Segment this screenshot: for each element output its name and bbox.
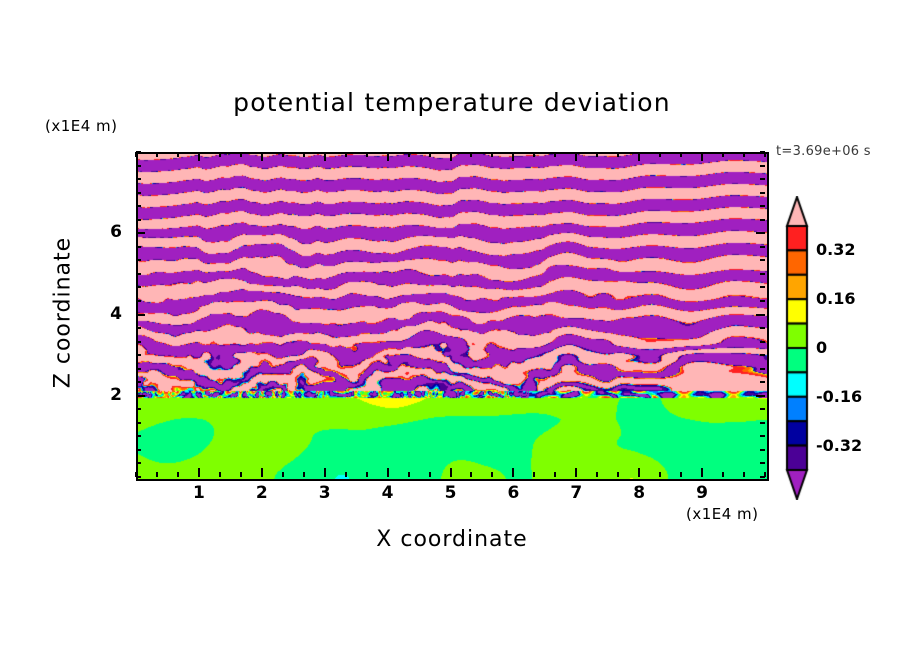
x-tick-major — [638, 468, 640, 477]
x-tick-minor — [240, 472, 242, 477]
y-tick-minor — [136, 368, 141, 370]
y-tick-minor — [136, 178, 141, 180]
colorbar-tick-label: -0.16 — [816, 387, 862, 406]
x-tick-minor — [743, 152, 745, 157]
y-tick-minor — [760, 178, 765, 180]
y-tick-major — [756, 314, 765, 316]
y-tick-minor — [136, 462, 141, 464]
y-tick-minor — [136, 476, 141, 478]
y-tick-minor — [136, 246, 141, 248]
y-tick-major — [136, 395, 145, 397]
x-tick-major — [450, 152, 452, 161]
colorbar-tick-label: 0.32 — [816, 240, 855, 259]
x-tick-label: 1 — [179, 483, 219, 503]
y-tick-major — [756, 232, 765, 234]
y-tick-minor — [136, 327, 141, 329]
colorbar-gradient — [784, 196, 810, 500]
y-tick-minor — [136, 354, 141, 356]
contour-plot-area — [136, 152, 769, 481]
x-tick-minor — [408, 472, 410, 477]
colorbar[interactable] — [784, 196, 810, 500]
y-tick-label: 4 — [92, 304, 122, 324]
x-tick-label: 3 — [305, 483, 345, 503]
x-tick-label: 9 — [682, 483, 722, 503]
x-tick-label: 7 — [556, 483, 596, 503]
colorbar-tick-label: -0.32 — [816, 436, 862, 455]
y-tick-minor — [760, 422, 765, 424]
y-tick-minor — [136, 408, 141, 410]
x-tick-minor — [366, 152, 368, 157]
x-tick-major — [575, 152, 577, 161]
x-tick-minor — [282, 472, 284, 477]
x-tick-major — [261, 468, 263, 477]
y-tick-major — [756, 395, 765, 397]
x-tick-minor — [429, 472, 431, 477]
x-tick-minor — [177, 472, 179, 477]
x-tick-minor — [596, 472, 598, 477]
y-tick-minor — [760, 219, 765, 221]
y-tick-minor — [136, 435, 141, 437]
x-tick-major — [701, 152, 703, 161]
y-tick-major — [136, 314, 145, 316]
x-tick-minor — [533, 472, 535, 477]
x-tick-minor — [303, 152, 305, 157]
x-tick-major — [450, 468, 452, 477]
y-tick-minor — [760, 165, 765, 167]
x-tick-minor — [219, 472, 221, 477]
x-axis-title: X coordinate — [0, 527, 904, 552]
x-tick-minor — [470, 472, 472, 477]
x-tick-minor — [282, 152, 284, 157]
x-tick-label: 2 — [242, 483, 282, 503]
x-tick-minor — [722, 472, 724, 477]
y-tick-label: 6 — [92, 222, 122, 242]
x-axis-unit-label: (x1E4 m) — [686, 505, 759, 523]
x-tick-major — [324, 152, 326, 161]
y-tick-minor — [136, 205, 141, 207]
x-tick-minor — [554, 472, 556, 477]
x-tick-major — [198, 152, 200, 161]
y-tick-minor — [760, 151, 765, 153]
x-tick-minor — [156, 152, 158, 157]
x-tick-major — [575, 468, 577, 477]
x-tick-minor — [617, 472, 619, 477]
x-tick-minor — [366, 472, 368, 477]
x-tick-minor — [491, 152, 493, 157]
x-tick-label: 6 — [493, 483, 533, 503]
temperature-deviation-field — [138, 154, 767, 479]
x-tick-minor — [345, 152, 347, 157]
y-tick-minor — [760, 449, 765, 451]
y-tick-minor — [760, 408, 765, 410]
timestamp-annotation: t=3.69e+06 s — [776, 144, 871, 159]
y-tick-minor — [760, 205, 765, 207]
x-tick-minor — [680, 152, 682, 157]
y-tick-minor — [136, 381, 141, 383]
y-tick-minor — [760, 246, 765, 248]
x-tick-minor — [596, 152, 598, 157]
y-tick-minor — [760, 259, 765, 261]
x-tick-minor — [408, 152, 410, 157]
y-tick-minor — [760, 368, 765, 370]
y-tick-minor — [136, 259, 141, 261]
y-tick-minor — [136, 341, 141, 343]
colorbar-tick-label: 0 — [816, 338, 827, 357]
x-tick-minor — [156, 472, 158, 477]
y-tick-minor — [760, 435, 765, 437]
y-tick-minor — [136, 422, 141, 424]
y-tick-minor — [760, 354, 765, 356]
x-tick-major — [387, 152, 389, 161]
y-tick-minor — [760, 286, 765, 288]
y-tick-minor — [136, 219, 141, 221]
x-tick-minor — [722, 152, 724, 157]
x-tick-major — [512, 152, 514, 161]
x-tick-label: 4 — [368, 483, 408, 503]
x-tick-major — [387, 468, 389, 477]
y-tick-minor — [136, 273, 141, 275]
figure-title: potential temperature deviation — [0, 88, 904, 117]
y-tick-minor — [136, 192, 141, 194]
y-tick-minor — [136, 165, 141, 167]
x-tick-minor — [303, 472, 305, 477]
x-tick-minor — [659, 472, 661, 477]
y-tick-minor — [136, 300, 141, 302]
x-tick-major — [701, 468, 703, 477]
x-tick-major — [512, 468, 514, 477]
colorbar-tick-label: 0.16 — [816, 289, 855, 308]
y-axis-title: Z coordinate — [51, 188, 76, 438]
y-tick-major — [136, 232, 145, 234]
y-tick-minor — [136, 449, 141, 451]
y-tick-minor — [136, 286, 141, 288]
x-tick-major — [261, 152, 263, 161]
y-tick-minor — [760, 327, 765, 329]
y-tick-minor — [760, 192, 765, 194]
x-tick-minor — [680, 472, 682, 477]
x-tick-minor — [491, 472, 493, 477]
x-tick-minor — [617, 152, 619, 157]
figure-canvas: potential temperature deviation (x1E4 m)… — [0, 0, 904, 654]
x-tick-major — [324, 468, 326, 477]
y-axis-unit-label: (x1E4 m) — [45, 117, 118, 135]
x-tick-major — [638, 152, 640, 161]
x-tick-minor — [554, 152, 556, 157]
x-tick-minor — [240, 152, 242, 157]
y-tick-label: 2 — [92, 385, 122, 405]
x-tick-minor — [659, 152, 661, 157]
x-tick-minor — [470, 152, 472, 157]
x-tick-minor — [177, 152, 179, 157]
x-tick-label: 5 — [431, 483, 471, 503]
x-tick-minor — [429, 152, 431, 157]
y-tick-minor — [760, 462, 765, 464]
x-tick-minor — [345, 472, 347, 477]
x-tick-major — [198, 468, 200, 477]
y-tick-minor — [136, 151, 141, 153]
y-tick-minor — [760, 381, 765, 383]
x-tick-minor — [219, 152, 221, 157]
y-tick-minor — [760, 341, 765, 343]
x-tick-minor — [743, 472, 745, 477]
y-tick-minor — [760, 273, 765, 275]
x-tick-minor — [533, 152, 535, 157]
y-tick-minor — [760, 300, 765, 302]
x-tick-label: 8 — [619, 483, 659, 503]
y-tick-minor — [760, 476, 765, 478]
